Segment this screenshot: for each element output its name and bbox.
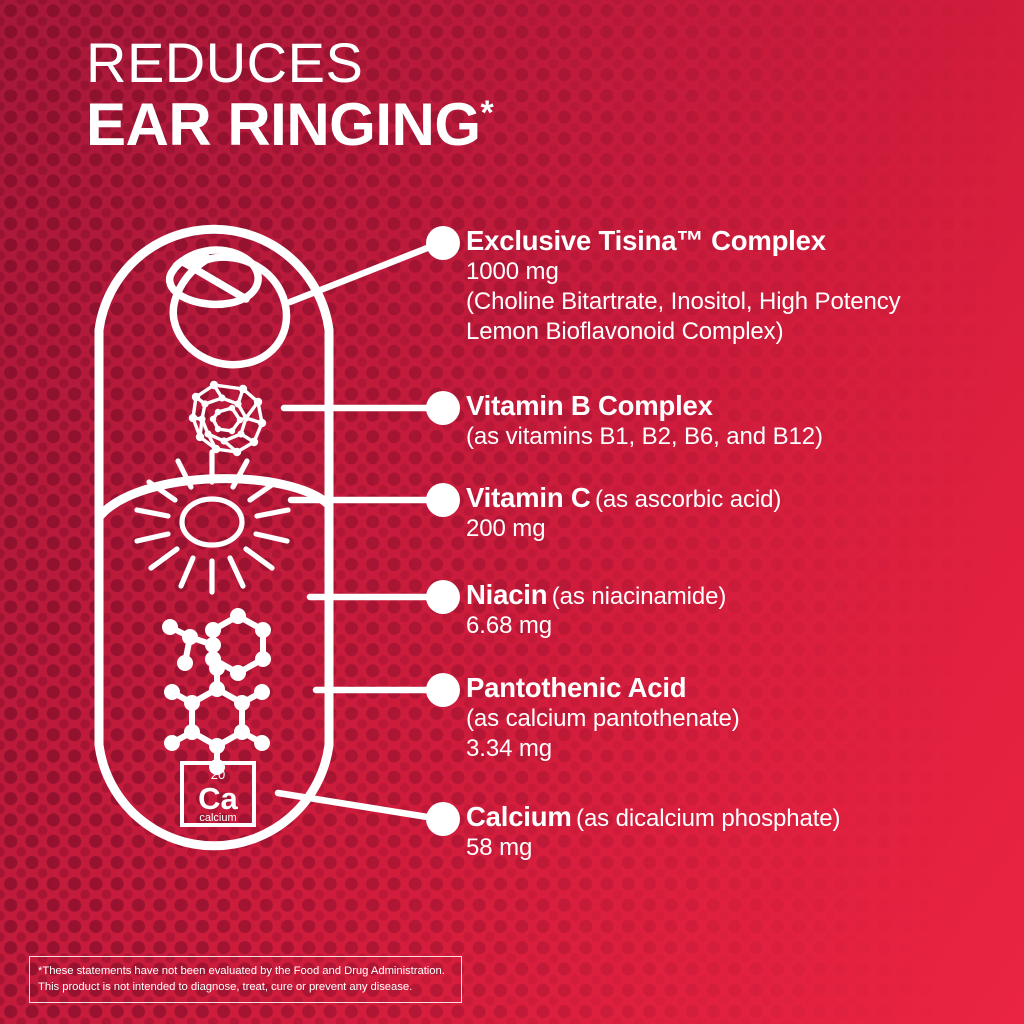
ingredient-item-6: Calcium (as dicalcium phosphate) 58 mg [466, 801, 840, 863]
ingredient-name-5: Pantothenic Acid [466, 672, 686, 703]
ingredient-name-row-2: Vitamin B Complex [466, 390, 823, 422]
page-title: REDUCES EAR RINGING* [86, 36, 493, 153]
ingredient-name-row-4: Niacin (as niacinamide) [466, 579, 726, 611]
connector-line-1 [290, 243, 440, 302]
ingredient-name-row-6: Calcium (as dicalcium phosphate) [466, 801, 840, 833]
ingredient-amount-3: 200 mg [466, 514, 781, 544]
ingredient-name-1: Exclusive Tisina [466, 225, 676, 256]
bullet-dot-6 [426, 802, 460, 836]
ingredient-sub-2: (as vitamins B1, B2, B6, and B12) [466, 422, 823, 452]
ingredient-sub-1: (Choline Bitartrate, Inositol, High Pote… [466, 287, 901, 347]
lemon-icon [170, 250, 287, 365]
ingredient-amount-4: 6.68 mg [466, 611, 726, 641]
ingredient-amount-5: 3.34 mg [466, 734, 740, 764]
ingredient-item-4: Niacin (as niacinamide) 6.68 mg [466, 579, 726, 641]
ingredient-name-row-3: Vitamin C (as ascorbic acid) [466, 482, 781, 514]
ingredient-name-6: Calcium [466, 801, 572, 832]
calcium-element-icon: 20 Ca calcium [182, 763, 254, 825]
trademark-icon: ™ [676, 225, 703, 256]
bullet-dot-5 [426, 673, 460, 707]
bullet-dot-4 [426, 580, 460, 614]
infographic-poster: REDUCES EAR RINGING* [0, 0, 1024, 1024]
headline-line-2: EAR RINGING* [86, 96, 493, 154]
bullet-markers [426, 226, 460, 836]
ingredient-amount-1: 1000 mg [466, 257, 901, 287]
ingredient-name-2: Vitamin B Complex [466, 390, 713, 421]
sun-icon [137, 452, 288, 592]
ingredient-amount-6: 58 mg [466, 833, 840, 863]
ingredient-sub-5: (as calcium pantothenate) [466, 704, 740, 734]
ingredient-qualifier-4: (as niacinamide) [552, 583, 726, 610]
headline-line-1: REDUCES [86, 36, 493, 90]
ingredient-item-2: Vitamin B Complex (as vitamins B1, B2, B… [466, 390, 823, 452]
benzene-ring-icon [164, 660, 270, 775]
ingredient-item-1: Exclusive Tisina™ Complex 1000 mg (Choli… [466, 225, 901, 347]
ingredient-name-row-5: Pantothenic Acid [466, 672, 740, 704]
molecule-cluster-icon [189, 381, 266, 456]
ingredient-qualifier-6: (as dicalcium phosphate) [576, 805, 840, 832]
connector-lines [278, 243, 440, 819]
ingredient-qualifier-3: (as ascorbic acid) [595, 486, 781, 513]
ingredient-name-row-1: Exclusive Tisina™ Complex [466, 225, 901, 257]
ingredient-name-4: Niacin [466, 579, 547, 610]
ingredient-name-3: Vitamin C [466, 482, 591, 513]
ingredient-item-3: Vitamin C (as ascorbic acid) 200 mg [466, 482, 781, 544]
ingredient-item-5: Pantothenic Acid (as calcium pantothenat… [466, 672, 740, 764]
ingredient-name-tail-1: Complex [704, 225, 826, 256]
calcium-symbol: Ca [198, 781, 238, 816]
bullet-dot-2 [426, 391, 460, 425]
headline-asterisk: * [481, 94, 494, 132]
calcium-atomic-number: 20 [211, 767, 225, 782]
disclaimer-line-1: *These statements have not been evaluate… [38, 963, 453, 979]
disclaimer-line-2: This product is not intended to diagnose… [38, 979, 453, 995]
bullet-dot-3 [426, 483, 460, 517]
fda-disclaimer: *These statements have not been evaluate… [29, 956, 462, 1003]
headline-line-2-text: EAR RINGING [86, 91, 481, 158]
calcium-element-name: calcium [199, 812, 236, 824]
bullet-dot-1 [426, 226, 460, 260]
